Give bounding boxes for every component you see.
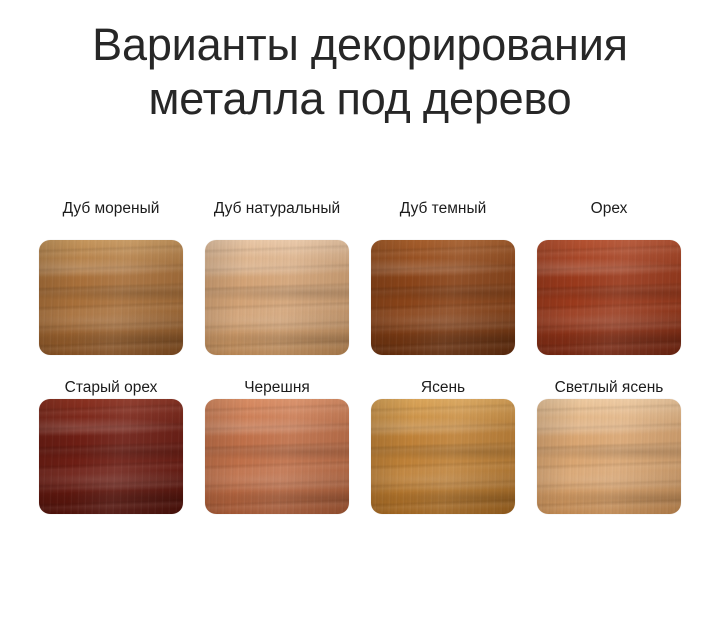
- swatch-cell-orekh[interactable]: Орех: [537, 196, 681, 355]
- wood-grain-shade-icon: [205, 240, 349, 355]
- wood-swatch-svetlyy-yasen[interactable]: [537, 399, 681, 514]
- swatch-row-1: Дуб мореный Дуб натуральный Ду: [0, 196, 720, 355]
- wood-swatch-dub-temnyy[interactable]: [371, 240, 515, 355]
- wood-swatch-dub-morenyy[interactable]: [39, 240, 183, 355]
- wood-decor-palette-page: Варианты декорирования металла под дерев…: [0, 0, 720, 636]
- wood-grain-shade-icon: [371, 399, 515, 514]
- swatch-row-2: Старый орех Черешня Ясень: [0, 373, 720, 514]
- swatch-cell-dub-morenyy[interactable]: Дуб мореный: [39, 196, 183, 355]
- swatch-cell-staryy-orekh[interactable]: Старый орех: [39, 373, 183, 514]
- swatch-cell-dub-naturalnyy[interactable]: Дуб натуральный: [205, 196, 349, 355]
- wood-grain-shade-icon: [205, 399, 349, 514]
- swatch-label: Ясень: [421, 373, 465, 399]
- swatch-cell-dub-temnyy[interactable]: Дуб темный: [371, 196, 515, 355]
- wood-swatch-chereshnya[interactable]: [205, 399, 349, 514]
- swatch-label: Дуб натуральный: [214, 196, 340, 240]
- wood-swatch-staryy-orekh[interactable]: [39, 399, 183, 514]
- swatch-cell-svetlyy-yasen[interactable]: Светлый ясень: [537, 373, 681, 514]
- swatch-label: Светлый ясень: [555, 373, 664, 399]
- wood-grain-shade-icon: [537, 399, 681, 514]
- wood-grain-shade-icon: [39, 240, 183, 355]
- wood-grain-shade-icon: [371, 240, 515, 355]
- swatch-label: Старый орех: [65, 373, 158, 399]
- swatch-label: Дуб темный: [400, 196, 487, 240]
- swatch-label: Орех: [591, 196, 628, 240]
- wood-swatch-orekh[interactable]: [537, 240, 681, 355]
- wood-swatch-yasen[interactable]: [371, 399, 515, 514]
- page-title: Варианты декорирования металла под дерев…: [0, 0, 720, 126]
- swatch-label: Дуб мореный: [63, 196, 160, 240]
- wood-grain-shade-icon: [39, 399, 183, 514]
- page-title-line-1: Варианты декорирования: [0, 18, 720, 72]
- page-title-line-2: металла под дерево: [0, 72, 720, 126]
- wood-swatch-dub-naturalnyy[interactable]: [205, 240, 349, 355]
- swatch-cell-yasen[interactable]: Ясень: [371, 373, 515, 514]
- swatch-cell-chereshnya[interactable]: Черешня: [205, 373, 349, 514]
- wood-grain-shade-icon: [537, 240, 681, 355]
- swatch-label: Черешня: [244, 373, 310, 399]
- swatch-grid: Дуб мореный Дуб натуральный Ду: [0, 196, 720, 516]
